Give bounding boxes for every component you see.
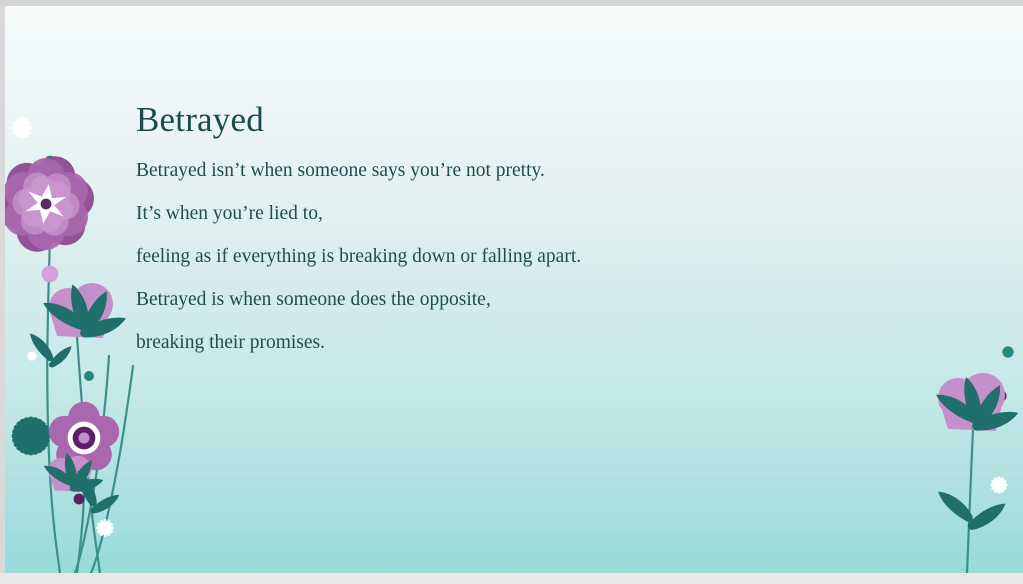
poem-text-block: Betrayed Betrayed isn’t when someone say…	[136, 102, 836, 352]
page-title: Betrayed	[136, 102, 836, 139]
slide-canvas: Betrayed Betrayed isn’t when someone say…	[5, 6, 1023, 573]
poem-line: Betrayed isn’t when someone says you’re …	[136, 161, 836, 181]
teal-dot-small	[45, 156, 56, 167]
white-dot-right	[991, 477, 1008, 494]
window-chrome-bottom-edge	[0, 573, 1023, 584]
flower-star-center	[24, 182, 67, 227]
dark-purple-dot-right	[995, 390, 1006, 401]
poem-line: Betrayed is when someone does the opposi…	[136, 290, 836, 310]
poem-line: breaking their promises.	[136, 333, 836, 353]
teal-starburst-dahlia	[12, 417, 51, 456]
teal-dot-tiny	[84, 371, 94, 381]
pale-purple-dot	[42, 266, 59, 283]
stem-leaves-right	[934, 487, 1009, 535]
stem-leaves-left	[26, 330, 74, 370]
stem-right	[967, 430, 973, 573]
poem-line: It’s when you’re lied to,	[136, 204, 836, 224]
purple-tulip-bloom-right	[932, 373, 1020, 436]
poem-line: feeling as if everything is breaking dow…	[136, 247, 836, 267]
white-starburst-dot-lower	[96, 519, 113, 536]
white-starburst-dot	[11, 117, 32, 138]
purple-tulip-bloom	[40, 282, 129, 342]
stem-lines	[47, 238, 133, 573]
flower-center-dot	[41, 199, 52, 210]
stem-leaves-lower	[72, 468, 122, 517]
dark-purple-dot	[75, 289, 87, 301]
dark-purple-dot-small	[74, 494, 85, 505]
small-tulip-bloom-lower	[41, 452, 105, 496]
ringed-purple-flower	[49, 402, 119, 471]
left-floral-group	[5, 117, 133, 573]
right-floral-group	[932, 346, 1020, 573]
poem-body: Betrayed isn’t when someone says you’re …	[136, 161, 836, 353]
window-chrome-top-edge	[0, 0, 1023, 6]
slide-root: Betrayed Betrayed isn’t when someone say…	[0, 0, 1023, 584]
tulip-leaves	[40, 282, 129, 342]
white-dot-tiny	[27, 351, 36, 360]
large-layered-purple-flower	[5, 143, 104, 264]
teal-dot-right	[1002, 346, 1013, 357]
tulip-leaves-right	[932, 375, 1020, 435]
window-chrome-left-edge	[0, 6, 5, 573]
